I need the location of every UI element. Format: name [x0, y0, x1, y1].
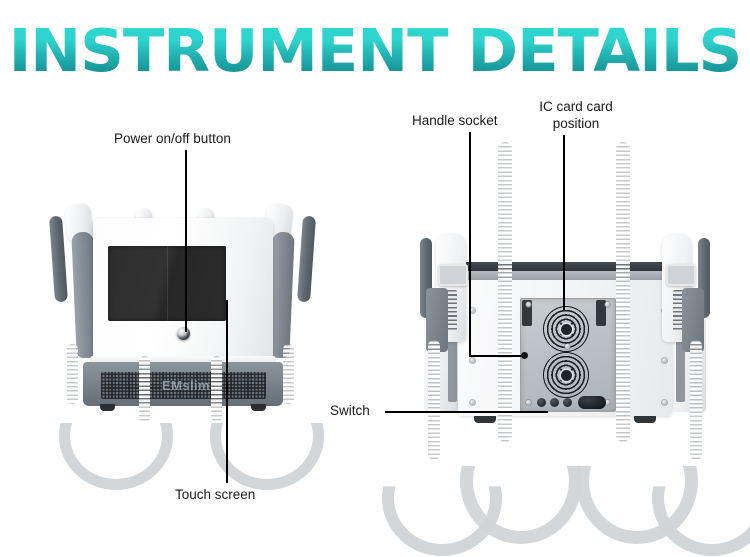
handle-holder-right — [297, 216, 316, 303]
leader-dot-handle-socket — [521, 352, 528, 359]
handle-cable-front-left — [498, 142, 512, 442]
handle-cable — [211, 356, 222, 422]
handle-cable — [428, 340, 440, 460]
chassis-screw — [662, 358, 667, 363]
callout-label-power-button: Power on/off button — [114, 131, 231, 147]
panel-screw — [605, 302, 610, 307]
panel-screw — [526, 302, 531, 307]
leader-line-ic-card — [563, 135, 565, 310]
ic-card-label-line2: position — [553, 116, 600, 131]
chassis-screw — [662, 400, 667, 405]
device-foot — [251, 404, 266, 411]
handle-cable — [139, 356, 150, 422]
handle-cable-loop — [576, 418, 698, 544]
page-title: INSTRUMENT DETAILS — [0, 18, 750, 84]
handle-cable-front-right — [616, 142, 630, 442]
switch-button[interactable] — [550, 398, 559, 407]
device-rear-view — [400, 228, 730, 458]
device-foot — [100, 404, 115, 411]
panel-screw — [526, 400, 531, 405]
handle-socket-right[interactable] — [666, 264, 696, 286]
handle-cable — [283, 344, 294, 404]
leader-line-switch — [385, 411, 548, 413]
leader-line-handle-socket-vertical — [469, 132, 471, 357]
chassis-panel-left — [448, 338, 457, 402]
handle-holder-left — [49, 216, 68, 303]
device-foot — [634, 416, 656, 423]
top-rail-base — [458, 270, 672, 280]
ic-card-label-line1: IC card card — [539, 99, 613, 114]
chassis-screw — [470, 358, 475, 363]
callout-label-handle-socket: Handle socket — [412, 113, 498, 129]
handle-socket-left[interactable] — [438, 264, 468, 286]
touch-screen-display[interactable] — [108, 246, 226, 321]
device-foot — [474, 416, 496, 423]
power-on-off-button[interactable] — [177, 327, 190, 340]
chassis-screw — [470, 308, 475, 313]
leader-line-power-button — [185, 150, 187, 332]
power-switch-socket[interactable] — [578, 396, 606, 409]
switch-button[interactable] — [563, 398, 572, 407]
device-front-view: EMslim — [38, 196, 328, 426]
leader-line-handle-socket-horizontal — [469, 355, 525, 357]
switch-button[interactable] — [537, 398, 546, 407]
handle-cable-loop — [460, 418, 582, 544]
handle-cable — [690, 340, 702, 460]
chassis-screw — [470, 400, 475, 405]
handle-cable — [67, 344, 78, 404]
infographic-canvas: INSTRUMENT DETAILS EMslim — [0, 0, 750, 557]
panel-screw — [565, 344, 570, 349]
callout-label-switch: Switch — [330, 403, 370, 419]
top-handle-rail — [460, 262, 670, 271]
callout-label-ic-card: IC card card position — [521, 98, 631, 132]
cooling-fan-grille-bottom — [543, 352, 589, 398]
callout-label-touch-screen: Touch screen — [175, 487, 255, 503]
leader-line-touch-screen — [226, 300, 228, 483]
